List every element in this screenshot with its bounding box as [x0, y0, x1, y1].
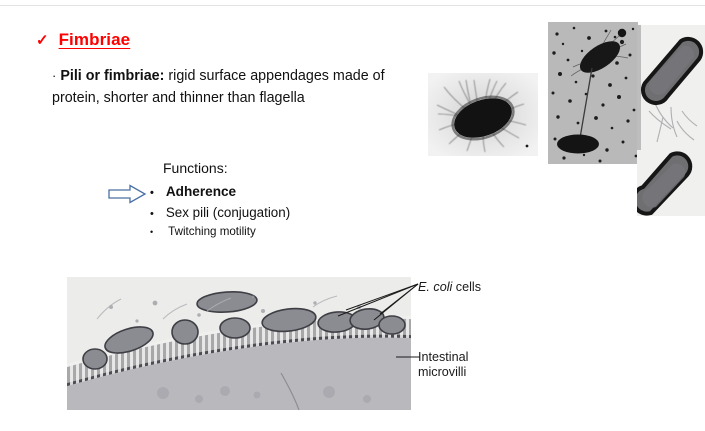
micrograph-rods-with-pili [637, 25, 705, 216]
callout-microvilli-line2: microvilli [418, 365, 468, 380]
micrograph-conjugating-cells [548, 22, 638, 164]
micrograph-fimbriated-bacterium [428, 73, 538, 156]
list-item: • Adherence [150, 184, 290, 199]
top-divider [0, 5, 705, 6]
callout-microvilli-line1: Intestinal [418, 350, 468, 365]
bullet-icon: • [150, 188, 154, 199]
checkmark-icon: ✓ [36, 33, 49, 48]
list-item-label: Twitching motility [165, 225, 256, 238]
slide-heading: ✓ Fimbriae [36, 30, 130, 50]
main-bullet-paragraph: · Pili or fimbriae: rigid surface append… [52, 66, 422, 109]
bullet-icon: • [150, 228, 153, 237]
list-item-label: Adherence [166, 184, 236, 199]
right-arrow-outline-icon [108, 184, 148, 209]
list-item: • Twitching motility [150, 225, 290, 238]
callout-label-microvilli: Intestinal microvilli [418, 350, 468, 380]
bullet-icon: • [150, 209, 154, 220]
list-item: • Sex pili (conjugation) [150, 205, 290, 220]
page-title: Fimbriae [59, 30, 131, 50]
callout-species-suffix: cells [452, 280, 481, 294]
functions-label: Functions: [163, 160, 228, 176]
functions-list: • Adherence • Sex pili (conjugation) • T… [150, 184, 290, 238]
callout-label-ecoli: E. coli cells [418, 280, 481, 295]
bullet-marker: · [52, 68, 56, 83]
list-item-label: Sex pili (conjugation) [166, 205, 290, 220]
main-bullet-term: Pili or fimbriae: [60, 68, 164, 84]
slide-canvas: ✓ Fimbriae · Pili or fimbriae: rigid sur… [0, 0, 705, 431]
callout-species-name: E. coli [418, 280, 452, 294]
